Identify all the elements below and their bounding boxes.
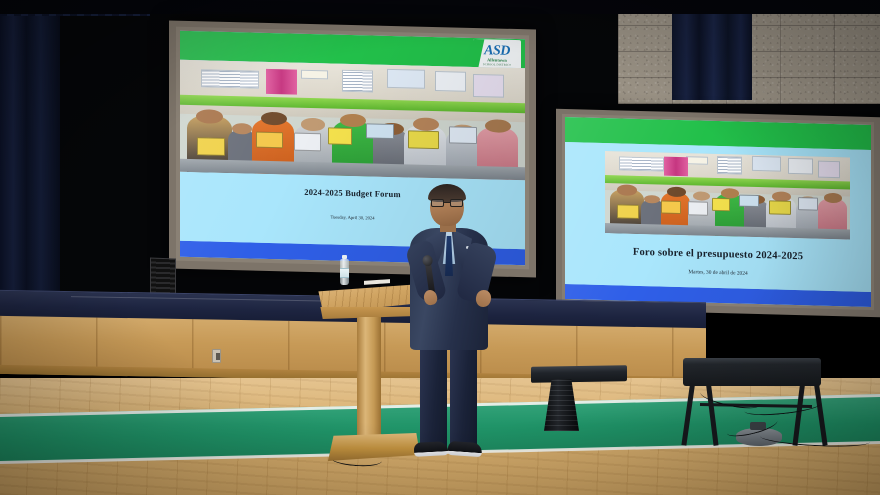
stage-curtain-right (672, 0, 752, 100)
projection-screen-spanish: Foro sobre el presupuesto 2024-2025 Mart… (556, 109, 880, 317)
slide-body-spanish: Foro sobre el presupuesto 2024-2025 Mart… (565, 142, 871, 292)
asd-logo-line2: SCHOOL DISTRICT (483, 63, 511, 67)
slide-date-spanish: Martes, 30 de abril de 2024 (565, 266, 871, 280)
presenter-shoe-left (414, 441, 449, 457)
av-equipment-small-case (531, 365, 627, 383)
classroom-photo (180, 60, 525, 181)
eyeglasses-icon (431, 199, 463, 207)
presenter-shoe-right (448, 441, 483, 457)
av-equipment-case (683, 358, 821, 386)
slide-spanish: Foro sobre el presupuesto 2024-2025 Mart… (565, 117, 871, 307)
screen-frame-spanish: Foro sobre el presupuesto 2024-2025 Mart… (562, 114, 874, 310)
presenter-legs (420, 344, 484, 452)
papers-on-lectern (364, 279, 390, 285)
lectern-column (357, 317, 381, 439)
classroom-photo-spanish (605, 151, 850, 240)
ceiling-shadow-band (0, 0, 880, 14)
presenter-leg-right (450, 344, 477, 452)
slide-title-spanish: Foro sobre el presupuesto 2024-2025 (565, 245, 871, 264)
wall-outlet (212, 349, 221, 363)
stage-curtain-left (0, 0, 60, 330)
presenter-figure (404, 186, 500, 466)
presentation-photo: ASD Allentown SCHOOL DISTRICT (0, 0, 880, 495)
presenter-leg-left (420, 344, 447, 452)
water-bottle-label (340, 268, 349, 278)
